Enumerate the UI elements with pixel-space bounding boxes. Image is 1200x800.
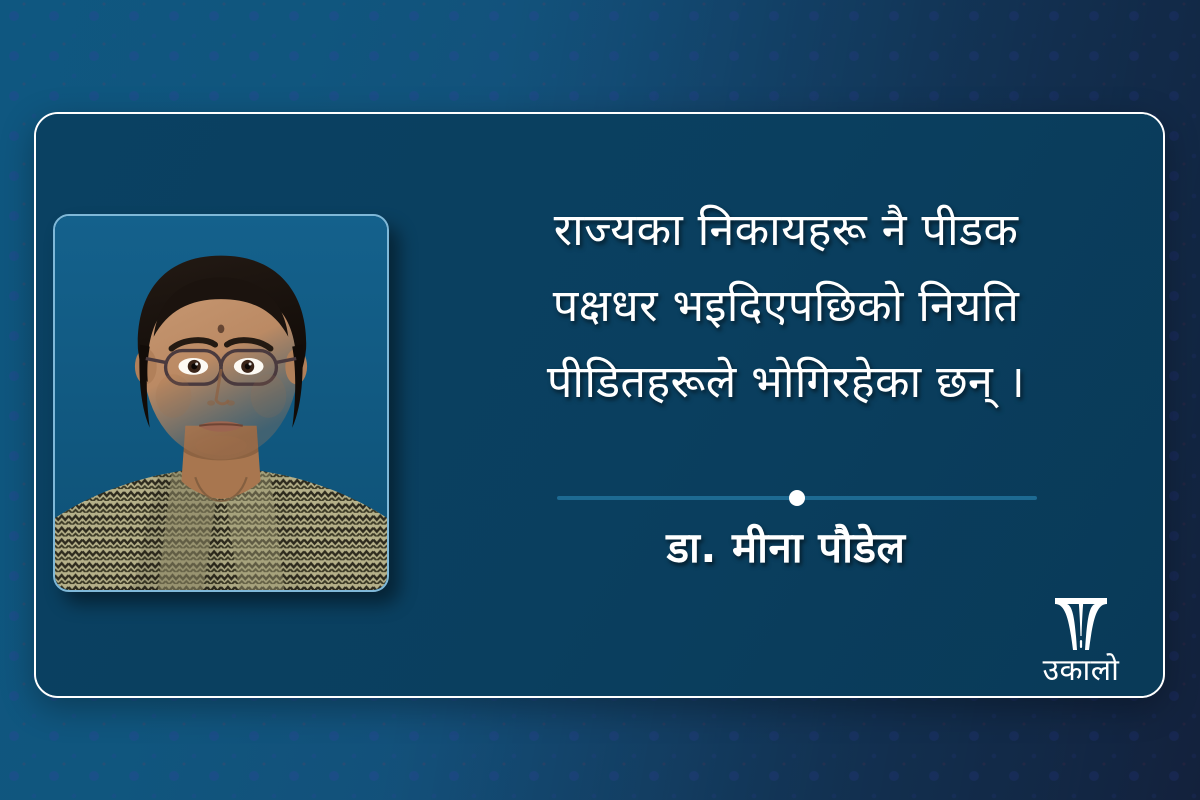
divider-dot-icon [789,490,805,506]
quote-line-3: पीडितहरूले भोगिरहेका छन् । [436,344,1136,420]
quote-line-1: राज्यका निकायहरू नै पीडक [436,192,1136,268]
portrait-photo [55,216,387,590]
ukaalo-road-mark-icon [1051,596,1111,652]
quote-card: राज्यका निकायहरू नै पीडक पक्षधर भइदिएपछि… [34,112,1165,698]
attribution-name: डा. मीना पौडेल [436,520,1136,576]
quote-card-graphic: राज्यका निकायहरू नै पीडक पक्षधर भइदिएपछि… [0,0,1200,800]
divider [557,490,1037,506]
quote-line-2: पक्षधर भइदिएपछिको नियति [436,268,1136,344]
ukaalo-logo[interactable]: उकालो [1025,588,1137,688]
quote-text: राज्यका निकायहरू नै पीडक पक्षधर भइदिएपछि… [436,192,1136,420]
ukaalo-logo-text: उकालो [1043,654,1120,688]
portrait-frame [53,214,389,592]
portrait-illustration [55,216,387,590]
